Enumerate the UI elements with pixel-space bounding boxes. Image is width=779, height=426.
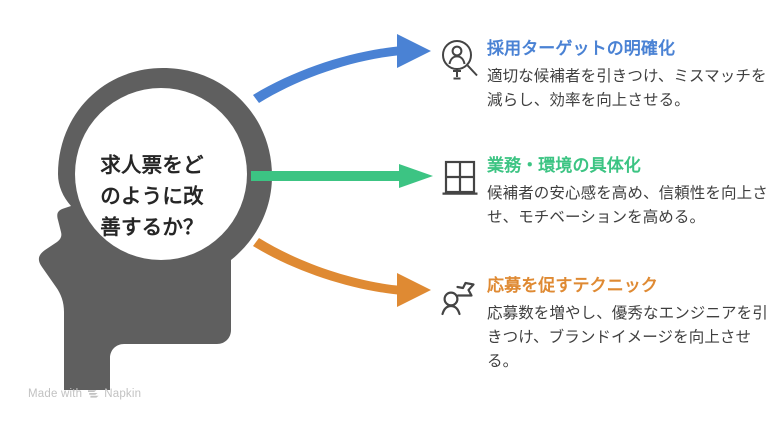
section-description: 候補者の安心感を高め、信頼性を向上させ、モチベーションを高める。 bbox=[487, 182, 773, 230]
napkin-logo-icon bbox=[87, 388, 99, 400]
person-magnifier-icon bbox=[437, 38, 483, 84]
section-description: 応募数を増やし、優秀なエンジニアを引きつけ、ブランドイメージを向上させる。 bbox=[487, 302, 773, 375]
section-description: 適切な候補者を引きつけ、ミスマッチを減らし、効率を向上させる。 bbox=[487, 65, 773, 113]
watermark-prefix: Made with bbox=[28, 388, 82, 400]
infographic-canvas: 求人票をど のように改 善するか？ bbox=[0, 0, 779, 426]
arrow-orange-curve-down-icon bbox=[253, 238, 431, 307]
section-title: 応募を促すテクニック bbox=[487, 275, 773, 297]
person-arrow-attract-icon bbox=[437, 275, 483, 321]
section-text: 応募を促すテクニック 応募数を増やし、優秀なエンジニアを引きつけ、ブランドイメー… bbox=[487, 275, 773, 374]
arrow-group bbox=[245, 30, 445, 320]
napkin-watermark: Made with Napkin bbox=[28, 388, 141, 400]
arrow-green-straight-icon bbox=[251, 164, 433, 188]
watermark-brand: Napkin bbox=[104, 388, 141, 400]
section-title: 採用ターゲットの明確化 bbox=[487, 38, 773, 60]
section-text: 採用ターゲットの明確化 適切な候補者を引きつけ、ミスマッチを減らし、効率を向上さ… bbox=[487, 38, 773, 113]
head-question-text: 求人票をど のように改 善するか？ bbox=[76, 150, 228, 243]
arrow-blue-curve-up-icon bbox=[253, 34, 431, 103]
section-text: 業務・環境の具体化 候補者の安心感を高め、信頼性を向上させ、モチベーションを高め… bbox=[487, 155, 773, 230]
section-title: 業務・環境の具体化 bbox=[487, 155, 773, 177]
window-grid-icon bbox=[437, 155, 483, 201]
